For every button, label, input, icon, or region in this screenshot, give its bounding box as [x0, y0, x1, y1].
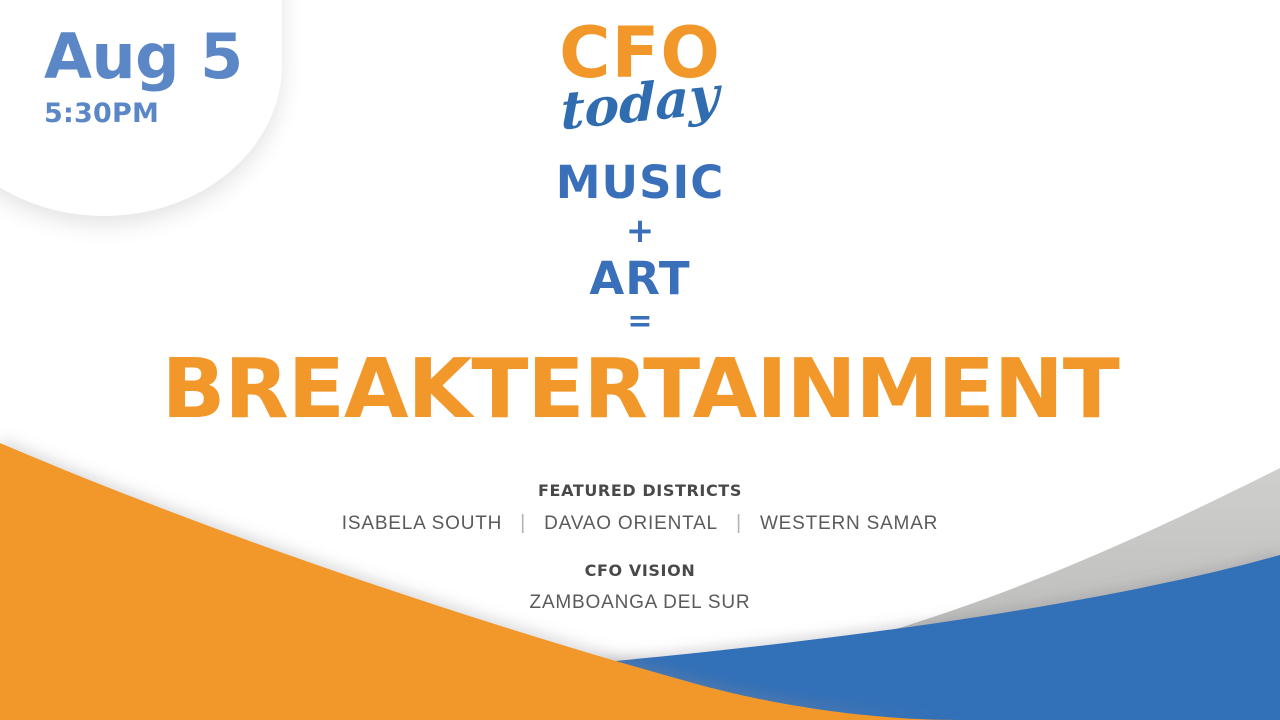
district-item: DAVAO ORIENTAL: [530, 513, 732, 535]
equation-music: MUSIC: [556, 160, 725, 205]
district-separator: |: [732, 512, 746, 535]
district-item: WESTERN SAMAR: [746, 513, 952, 535]
district-item: ISABELA SOUTH: [328, 513, 516, 535]
music-art-equation: MUSIC + ART =: [556, 160, 725, 337]
cfo-vision-label: CFO VISION: [328, 561, 952, 580]
slide-content: CFO today MUSIC + ART = BREAKTERTAINMENT…: [0, 0, 1280, 720]
event-slide: Aug 5 5:30PM CFO today MUSIC + ART = BRE…: [0, 0, 1280, 720]
cfo-today-logo: CFO today: [559, 18, 721, 130]
featured-districts-list: ISABELA SOUTH | DAVAO ORIENTAL | WESTERN…: [328, 512, 952, 535]
equals-icon: =: [556, 307, 725, 337]
equation-art: ART: [556, 256, 725, 301]
logo-today-script: today: [560, 69, 721, 138]
plus-icon: +: [556, 214, 725, 248]
districts-block: FEATURED DISTRICTS ISABELA SOUTH | DAVAO…: [328, 481, 952, 614]
district-separator: |: [516, 512, 530, 535]
headline-breaktertainment: BREAKTERTAINMENT: [161, 349, 1118, 431]
featured-districts-label: FEATURED DISTRICTS: [328, 481, 952, 500]
cfo-vision-value: ZAMBOANGA DEL SUR: [328, 592, 952, 614]
